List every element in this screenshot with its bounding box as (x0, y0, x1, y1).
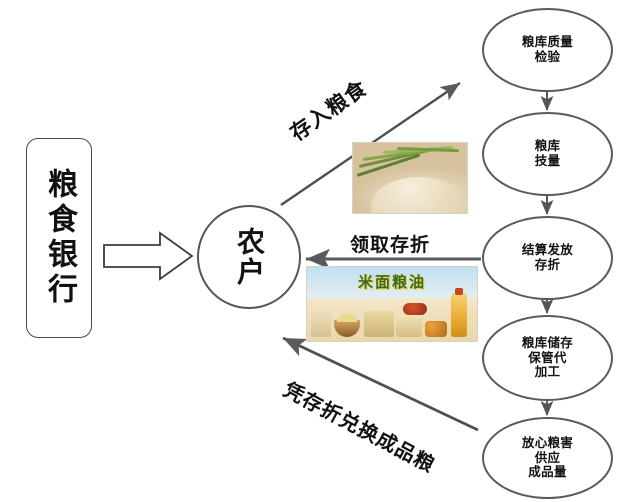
node-quality-inspection-label: 粮库质量 检验 (522, 35, 573, 65)
node-storage-processing[interactable]: 粮库储存 保管代 加工 (482, 315, 613, 401)
photo-grain-oil-products: 米面粮油 (306, 266, 478, 342)
bottle-cap-shape (455, 288, 463, 295)
oil-bottle-shape (451, 293, 467, 337)
node-finished-grain-supply[interactable]: 放心粮害 供应 成品量 (482, 417, 613, 499)
photo-banner-text: 米面粮油 (307, 271, 477, 292)
node-settlement-passbook-label: 结算发放 存折 (522, 243, 573, 273)
basket-shape (396, 315, 422, 337)
bowl-shape (334, 320, 360, 337)
block-arrow-right-icon (104, 233, 192, 279)
diagram-canvas: 粮食银行 农户 粮库质量 检验 粮库 技量 结算发放 存折 粮库储存 保管代 加… (0, 0, 640, 502)
basket-shape (364, 311, 394, 337)
node-quality-inspection[interactable]: 粮库质量 检验 (482, 8, 613, 92)
node-finished-grain-supply-label: 放心粮害 供应 成品量 (522, 436, 573, 480)
node-weighing-label: 粮库 技量 (535, 139, 561, 169)
node-farmer-label: 农户 (235, 227, 263, 287)
sack-shape (311, 309, 331, 337)
node-settlement-passbook[interactable]: 结算发放 存折 (482, 216, 613, 300)
rice-heap-shape (371, 177, 467, 214)
edge-label-passbook: 领取存折 (350, 230, 430, 257)
node-storage-processing-label: 粮库储存 保管代 加工 (522, 336, 573, 380)
node-grain-bank[interactable]: 粮食银行 (26, 138, 92, 338)
photo-rice-grain (352, 142, 468, 214)
node-farmer[interactable]: 农户 (197, 205, 301, 309)
grain-pile-shape (337, 314, 357, 322)
node-weighing[interactable]: 粮库 技量 (482, 112, 613, 196)
dates-shape (403, 303, 427, 315)
node-grain-bank-label: 粮食银行 (44, 168, 74, 308)
beans-shape (425, 321, 447, 337)
